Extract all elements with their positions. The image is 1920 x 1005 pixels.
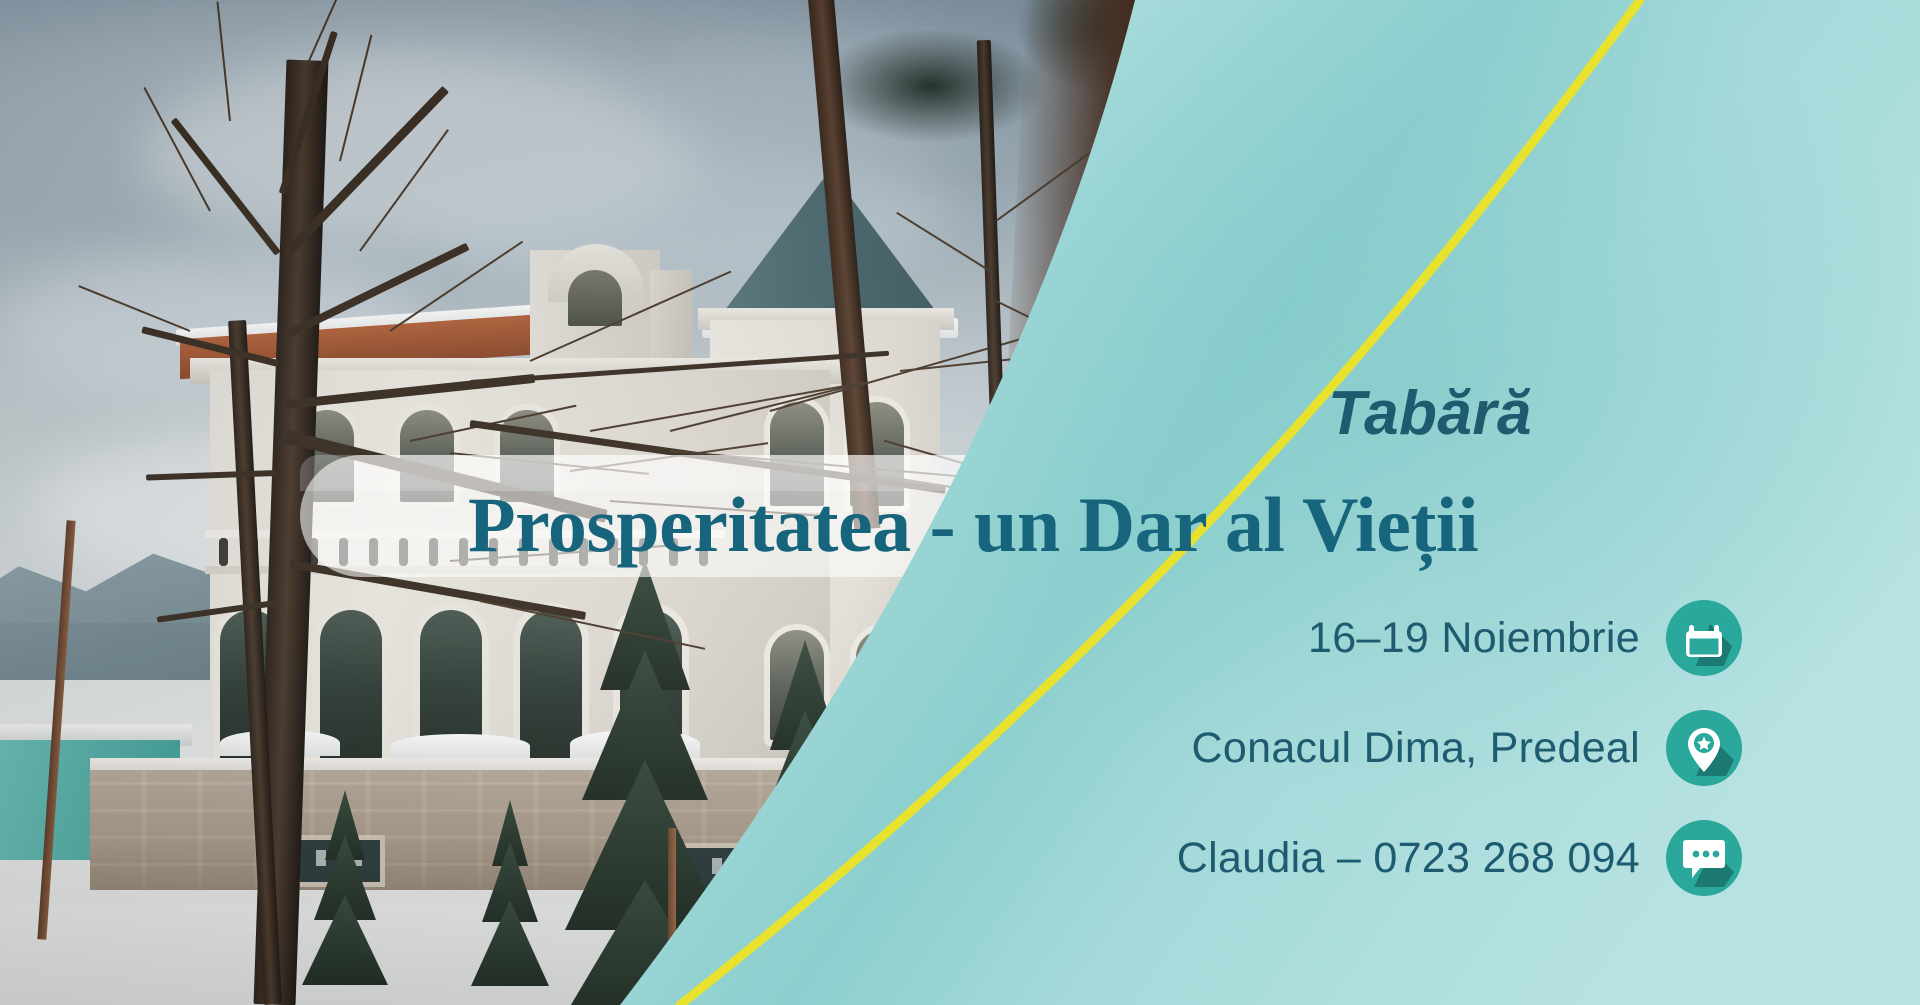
map-pin-icon[interactable] [1666,710,1742,786]
info-row-contact: Claudia – 0723 268 094 [982,820,1742,896]
date-label: 16–19 Noiembrie [1308,614,1640,663]
info-row-date: 16–19 Noiembrie [982,600,1742,676]
location-label: Conacul Dima, Predeal [1192,724,1640,773]
info-row-location: Conacul Dima, Predeal [982,710,1742,786]
calendar-icon[interactable] [1666,600,1742,676]
chat-bubble-icon[interactable] [1666,820,1742,896]
poster-canvas: Tabără Prosperitatea - un Dar al Vieții … [0,0,1920,1005]
contact-label: Claudia – 0723 268 094 [1177,834,1640,883]
page-title: Prosperitatea - un Dar al Vieții [468,486,1478,564]
eyebrow-tabara: Tabără [1328,383,1532,445]
